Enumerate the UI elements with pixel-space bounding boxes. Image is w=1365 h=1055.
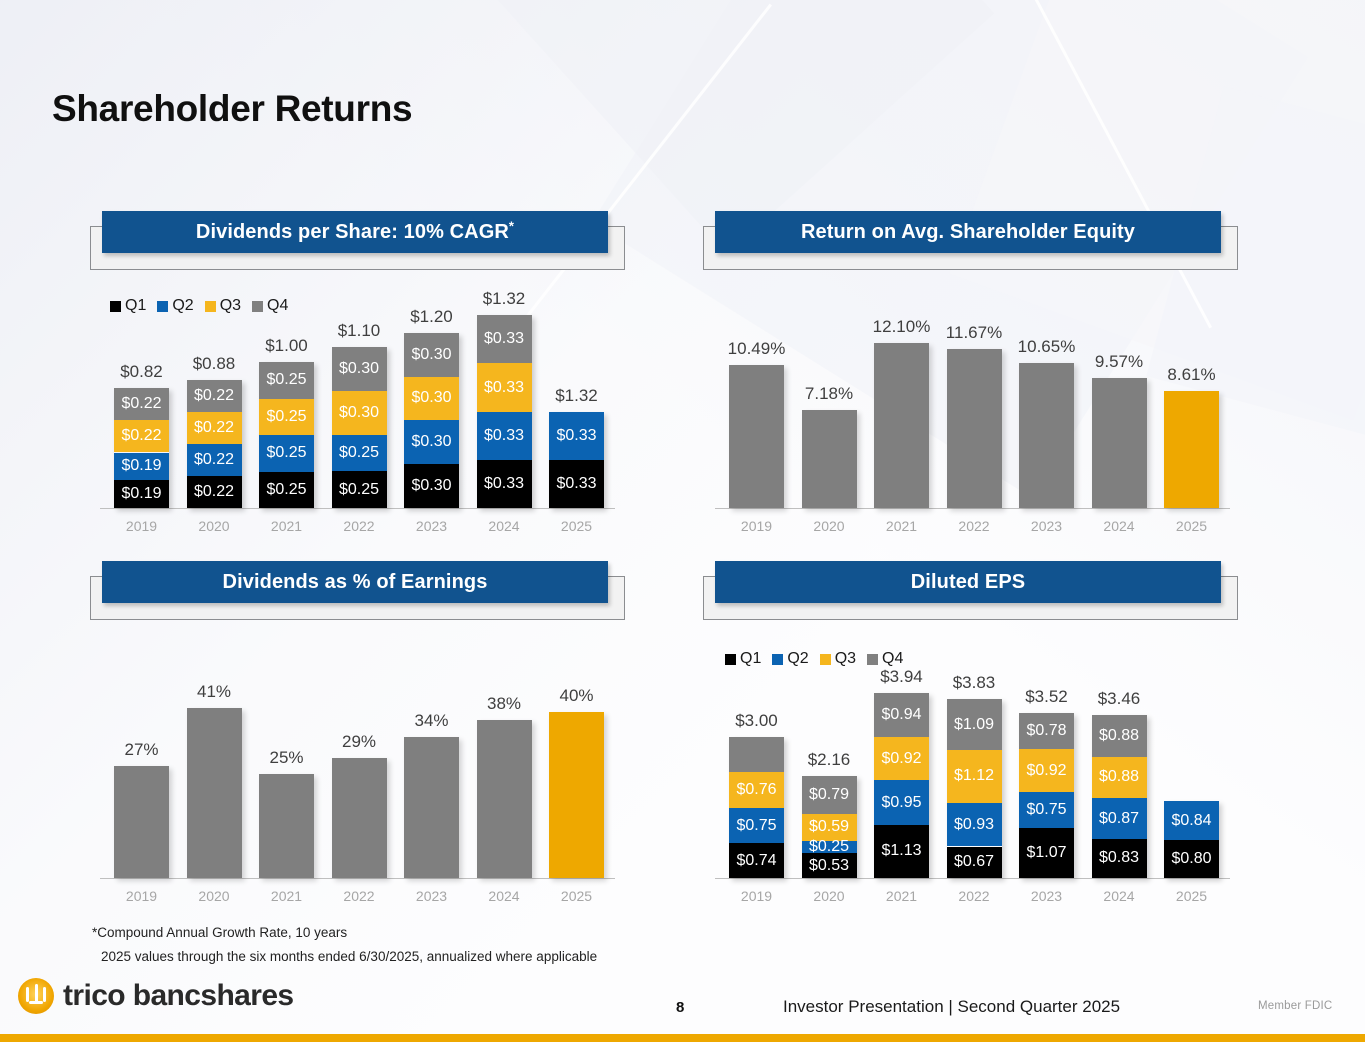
segment-value-label: $1.09 xyxy=(954,716,994,734)
segment-value-label: $0.33 xyxy=(556,427,596,445)
bar-value-label: 41% xyxy=(167,682,262,702)
stacked-bar: $0.79$0.59$0.25$0.53 xyxy=(802,776,857,878)
segment-value-label: $0.30 xyxy=(339,404,379,422)
segment-value-label: $0.22 xyxy=(121,427,161,445)
bar-segment-q2: $0.33 xyxy=(477,412,532,460)
bar-segment-q4: $0.94 xyxy=(874,693,929,737)
bar-segment-q1: $0.67 xyxy=(947,847,1002,878)
panel-header-dividends-pct-earnings: Dividends as % of Earnings xyxy=(102,561,608,603)
segment-value-label: $0.53 xyxy=(809,857,849,875)
bar-segment-q1: $0.80 xyxy=(1164,840,1219,878)
chart-diluted-eps: $0.76$0.75$0.74$3.002019$0.79$0.59$0.25$… xyxy=(715,645,1230,905)
bar xyxy=(1092,378,1147,508)
segment-value-label: $0.19 xyxy=(121,485,161,503)
bar-segment-q4: $0.79 xyxy=(802,776,857,813)
bar-segment-q4: $0.33 xyxy=(477,315,532,363)
segment-value-label: $0.30 xyxy=(339,360,379,378)
panel-title: Return on Avg. Shareholder Equity xyxy=(801,221,1135,244)
segment-value-label: $0.25 xyxy=(266,444,306,462)
bar-value-label: 10.49% xyxy=(709,339,804,359)
x-axis-tick-label: 2025 xyxy=(1146,888,1237,904)
bar-segment-q4: $0.22 xyxy=(187,380,242,412)
segment-value-label: $0.88 xyxy=(1099,768,1139,786)
bar-segment-q3: $0.59 xyxy=(802,814,857,842)
bar-segment-q2: $0.75 xyxy=(1019,792,1074,827)
bar-segment-q1: $1.07 xyxy=(1019,828,1074,878)
stacked-bar: $0.25$0.25$0.25$0.25 xyxy=(259,362,314,508)
bar-value-label: $1.32 xyxy=(531,386,622,406)
bar-segment-q3: $0.25 xyxy=(259,399,314,436)
slide-canvas: Shareholder Returns Dividends per Share:… xyxy=(0,0,1365,1055)
segment-value-label: $0.95 xyxy=(881,794,921,812)
panel-header-dividends-per-share: Dividends per Share: 10% CAGR* xyxy=(102,211,608,253)
bar-segment-q2: $0.75 xyxy=(729,808,784,843)
segment-value-label: $0.75 xyxy=(1026,801,1066,819)
bar-segment-q4 xyxy=(729,737,784,772)
footnote-2025-values: 2025 values through the six months ended… xyxy=(101,949,597,964)
bar-segment-q2: $0.95 xyxy=(874,780,929,825)
bar-segment-q4: $0.30 xyxy=(404,333,459,377)
bar-segment-q3: $0.30 xyxy=(332,391,387,435)
panel-header-diluted-eps: Diluted EPS xyxy=(715,561,1221,603)
bar-segment-q3: $0.22 xyxy=(187,412,242,444)
bar-value-label: 7.18% xyxy=(782,384,877,404)
bar xyxy=(477,720,532,878)
stacked-bar: $0.30$0.30$0.30$0.30 xyxy=(404,333,459,508)
bar xyxy=(259,774,314,878)
bar-segment-q1: $0.33 xyxy=(549,460,604,508)
bar-value-label: $2.16 xyxy=(784,750,875,770)
segment-value-label: $0.30 xyxy=(411,389,451,407)
bar-segment-q3: $0.76 xyxy=(729,772,784,808)
bar-segment-q1: $0.22 xyxy=(187,476,242,508)
segment-value-label: $0.92 xyxy=(881,750,921,768)
bar xyxy=(1164,391,1219,508)
bar-segment-q2: $0.33 xyxy=(549,412,604,460)
segment-value-label: $0.33 xyxy=(556,475,596,493)
footnote-marker: * xyxy=(509,218,514,233)
bar-segment-q3: $0.88 xyxy=(1092,757,1147,798)
bar-segment-q4: $0.78 xyxy=(1019,713,1074,750)
segment-value-label: $0.59 xyxy=(809,818,849,836)
stacked-bar: $0.94$0.92$0.95$1.13 xyxy=(874,693,929,878)
segment-value-label: $1.13 xyxy=(881,842,921,860)
bar-value-label: 8.61% xyxy=(1144,365,1239,385)
bar-value-label: $3.46 xyxy=(1074,689,1165,709)
stacked-bar: $0.76$0.75$0.74 xyxy=(729,737,784,878)
bar-segment-q1: $0.83 xyxy=(1092,839,1147,878)
segment-value-label: $0.25 xyxy=(266,408,306,426)
bar-segment-q2: $0.30 xyxy=(404,420,459,464)
bar-segment-q4: $0.22 xyxy=(114,388,169,420)
x-axis-tick-label: 2025 xyxy=(531,518,622,534)
segment-value-label: $1.07 xyxy=(1026,844,1066,862)
segment-value-label: $0.84 xyxy=(1171,812,1211,830)
segment-value-label: $0.87 xyxy=(1099,810,1139,828)
footer-presentation-label: Investor Presentation | Second Quarter 2… xyxy=(783,997,1120,1017)
brand-logo: trico bancshares xyxy=(18,978,294,1014)
x-axis xyxy=(715,878,1230,879)
bar-segment-q1: $0.33 xyxy=(477,460,532,508)
panel-title: Dividends per Share: 10% CAGR* xyxy=(196,221,514,244)
panel-title: Diluted EPS xyxy=(911,571,1025,594)
footer-band xyxy=(0,1042,1365,1055)
bar xyxy=(1019,363,1074,508)
bar-value-label: $0.88 xyxy=(169,354,260,374)
segment-value-label: $0.75 xyxy=(736,817,776,835)
bar-segment-q1: $0.25 xyxy=(259,472,314,509)
segment-value-label: $0.25 xyxy=(266,481,306,499)
bar-segment-q4: $1.09 xyxy=(947,699,1002,750)
segment-value-label: $0.22 xyxy=(194,451,234,469)
segment-value-label: $0.93 xyxy=(954,816,994,834)
segment-value-label: $0.25 xyxy=(339,481,379,499)
bar-segment-q4: $0.88 xyxy=(1092,715,1147,756)
stacked-bar: $0.78$0.92$0.75$1.07 xyxy=(1019,713,1074,878)
panel-header-return-on-equity: Return on Avg. Shareholder Equity xyxy=(715,211,1221,253)
segment-value-label: $0.22 xyxy=(194,387,234,405)
segment-value-label: $0.74 xyxy=(736,852,776,870)
bar-segment-q3: $0.33 xyxy=(477,363,532,411)
stacked-bar: $0.88$0.88$0.87$0.83 xyxy=(1092,715,1147,878)
bar-segment-q1: $0.74 xyxy=(729,843,784,878)
bar xyxy=(874,343,929,508)
x-axis xyxy=(715,508,1230,509)
segment-value-label: $0.33 xyxy=(484,379,524,397)
page-title: Shareholder Returns xyxy=(52,88,412,130)
chart-return-on-avg-shareholder-equity: 10.49%20197.18%202012.10%202111.67%20221… xyxy=(715,290,1230,540)
bar-segment-q1: $0.19 xyxy=(114,480,169,508)
segment-value-label: $1.12 xyxy=(954,767,994,785)
stacked-bar: $0.84$0.80 xyxy=(1164,801,1219,878)
segment-value-label: $0.76 xyxy=(736,781,776,799)
stacked-bar: $1.09$1.12$0.93$0.67 xyxy=(947,699,1002,878)
bar xyxy=(114,766,169,878)
stacked-bar: $0.22$0.22$0.19$0.19 xyxy=(114,388,169,508)
segment-value-label: $0.30 xyxy=(411,433,451,451)
bar-segment-q2: $0.93 xyxy=(947,803,1002,847)
segment-value-label: $0.78 xyxy=(1026,722,1066,740)
bar-segment-q3: $0.92 xyxy=(874,737,929,780)
brand-name: trico bancshares xyxy=(63,979,294,1013)
segment-value-label: $0.30 xyxy=(411,346,451,364)
footnote-cagr: *Compound Annual Growth Rate, 10 years xyxy=(92,925,347,940)
segment-value-label: $0.22 xyxy=(194,419,234,437)
page-number: 8 xyxy=(676,999,684,1016)
x-axis-tick-label: 2025 xyxy=(529,888,624,904)
segment-value-label: $0.30 xyxy=(411,477,451,495)
bar-segment-q2: $0.84 xyxy=(1164,801,1219,840)
stacked-bar: $0.33$0.33$0.33$0.33 xyxy=(477,315,532,508)
segment-value-label: $0.33 xyxy=(484,475,524,493)
bar-segment-q2: $0.19 xyxy=(114,453,169,481)
chart-dividends-as-pct-of-earnings: 27%201941%202025%202129%202234%202338%20… xyxy=(100,645,615,905)
bar-segment-q1: $0.25 xyxy=(332,471,387,508)
bar-segment-q3: $0.22 xyxy=(114,420,169,452)
segment-value-label: $0.22 xyxy=(121,395,161,413)
x-axis xyxy=(100,878,615,879)
bar-segment-q3: $1.12 xyxy=(947,750,1002,803)
bar-value-label: $1.20 xyxy=(386,307,477,327)
bar-value-label: 29% xyxy=(312,732,407,752)
bar-segment-q3: $0.92 xyxy=(1019,749,1074,792)
segment-value-label: $0.25 xyxy=(266,371,306,389)
bar-segment-q1: $1.13 xyxy=(874,825,929,878)
bar-segment-q2: $0.22 xyxy=(187,444,242,476)
bar-segment-q2: $0.25 xyxy=(332,435,387,472)
trico-tulip-icon xyxy=(18,978,54,1014)
segment-value-label: $0.19 xyxy=(121,457,161,475)
stacked-bar: $0.22$0.22$0.22$0.22 xyxy=(187,380,242,508)
bar-segment-q2: $0.25 xyxy=(259,435,314,472)
segment-value-label: $0.67 xyxy=(954,853,994,871)
x-axis-tick-label: 2025 xyxy=(1144,518,1239,534)
segment-value-label: $0.79 xyxy=(809,786,849,804)
bar-value-label: $3.00 xyxy=(711,711,802,731)
bar xyxy=(332,758,387,878)
segment-value-label: $0.80 xyxy=(1171,850,1211,868)
stacked-bar: $0.30$0.30$0.25$0.25 xyxy=(332,347,387,508)
footer-accent-rule xyxy=(0,1034,1365,1042)
segment-value-label: $0.94 xyxy=(881,706,921,724)
segment-value-label: $0.92 xyxy=(1026,762,1066,780)
segment-value-label: $0.88 xyxy=(1099,727,1139,745)
bar-value-label: 40% xyxy=(529,686,624,706)
stacked-bar: $0.33$0.33 xyxy=(549,412,604,508)
bar-segment-q1: $0.30 xyxy=(404,464,459,508)
bar-segment-q1: $0.53 xyxy=(802,853,857,878)
bar-value-label: $1.32 xyxy=(459,289,550,309)
segment-value-label: $0.83 xyxy=(1099,849,1139,867)
bar xyxy=(404,737,459,878)
segment-value-label: $0.33 xyxy=(484,427,524,445)
segment-value-label: $0.22 xyxy=(194,483,234,501)
bar xyxy=(729,365,784,508)
bar-segment-q3: $0.30 xyxy=(404,377,459,421)
bar xyxy=(802,410,857,508)
member-fdic-label: Member FDIC xyxy=(1258,1000,1332,1012)
segment-value-label: $0.33 xyxy=(484,330,524,348)
bar-segment-q4: $0.25 xyxy=(259,362,314,399)
bar-value-label: 27% xyxy=(94,740,189,760)
chart-dividends-per-share: $0.22$0.22$0.19$0.19$0.822019$0.22$0.22$… xyxy=(100,290,615,540)
bar xyxy=(549,712,604,878)
segment-value-label: $0.25 xyxy=(339,444,379,462)
x-axis xyxy=(100,508,615,509)
bar-segment-q2: $0.25 xyxy=(802,841,857,853)
bar-segment-q4: $0.30 xyxy=(332,347,387,391)
bar xyxy=(947,349,1002,508)
bar xyxy=(187,708,242,878)
panel-title: Dividends as % of Earnings xyxy=(223,571,488,594)
bar-segment-q2: $0.87 xyxy=(1092,798,1147,839)
